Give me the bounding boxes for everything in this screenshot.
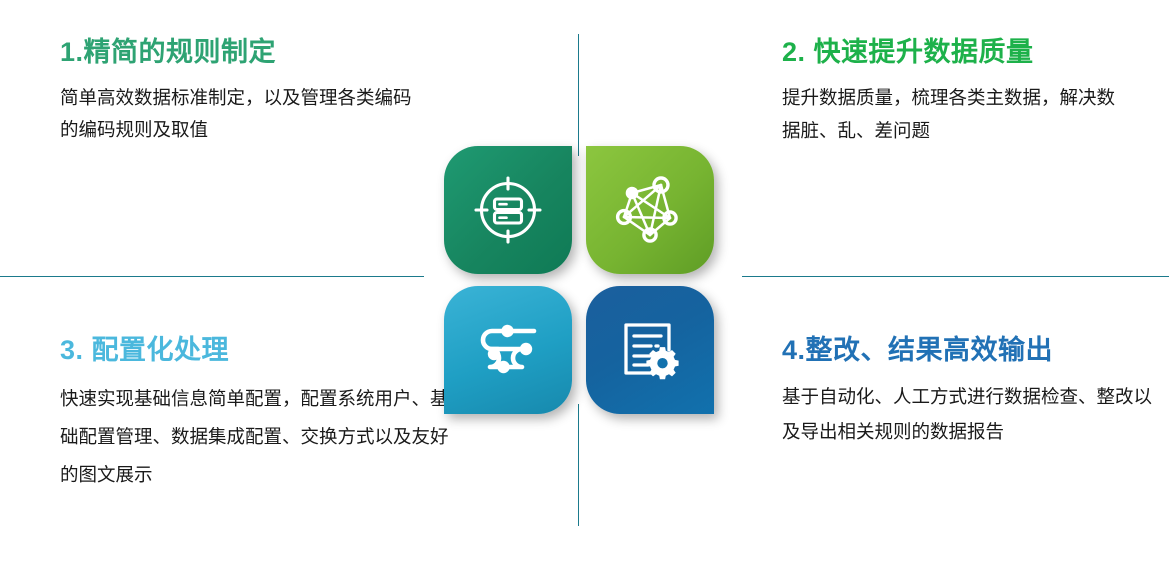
quadrant-1-title: 1.精简的规则制定 xyxy=(60,36,420,68)
quadrant-4-body: 基于自动化、人工方式进行数据检查、整改以及导出相关规则的数据报告 xyxy=(782,380,1152,448)
tile-1-rule-definition[interactable] xyxy=(444,146,572,274)
network-graph-icon xyxy=(614,174,686,246)
quadrant-3: 3. 配置化处理 快速实现基础信息简单配置，配置系统用户、基础配置管理、数据集成… xyxy=(60,334,450,494)
document-gear-icon xyxy=(614,314,686,386)
divider-horizontal-left xyxy=(0,276,424,277)
quadrant-3-title: 3. 配置化处理 xyxy=(60,334,450,366)
divider-horizontal-right xyxy=(742,276,1169,277)
quadrant-3-body: 快速实现基础信息简单配置，配置系统用户、基础配置管理、数据集成配置、交换方式以及… xyxy=(60,380,450,494)
tile-4-surface xyxy=(586,286,714,414)
quadrant-2: 2. 快速提升数据质量 提升数据质量，梳理各类主数据，解决数据脏、乱、差问题 xyxy=(782,36,1132,148)
process-flow-icon xyxy=(472,314,544,386)
quadrant-1-body: 简单高效数据标准制定，以及管理各类编码的编码规则及取值 xyxy=(60,82,420,146)
divider-vertical-bottom xyxy=(578,404,579,526)
quadrant-2-title: 2. 快速提升数据质量 xyxy=(782,36,1132,68)
center-icon-grid xyxy=(444,146,714,414)
tile-3-surface xyxy=(444,286,572,414)
tile-3-configuration[interactable] xyxy=(444,286,572,414)
divider-vertical-top xyxy=(578,34,579,156)
target-database-icon xyxy=(472,174,544,246)
tile-2-data-quality[interactable] xyxy=(586,146,714,274)
tile-2-surface xyxy=(586,146,714,274)
tile-1-surface xyxy=(444,146,572,274)
quadrant-4: 4.整改、结果高效输出 基于自动化、人工方式进行数据检查、整改以及导出相关规则的… xyxy=(782,334,1152,449)
quadrant-1: 1.精简的规则制定 简单高效数据标准制定，以及管理各类编码的编码规则及取值 xyxy=(60,36,420,146)
tile-4-report-output[interactable] xyxy=(586,286,714,414)
quadrant-2-body: 提升数据质量，梳理各类主数据，解决数据脏、乱、差问题 xyxy=(782,82,1132,148)
quadrant-4-title: 4.整改、结果高效输出 xyxy=(782,334,1152,366)
